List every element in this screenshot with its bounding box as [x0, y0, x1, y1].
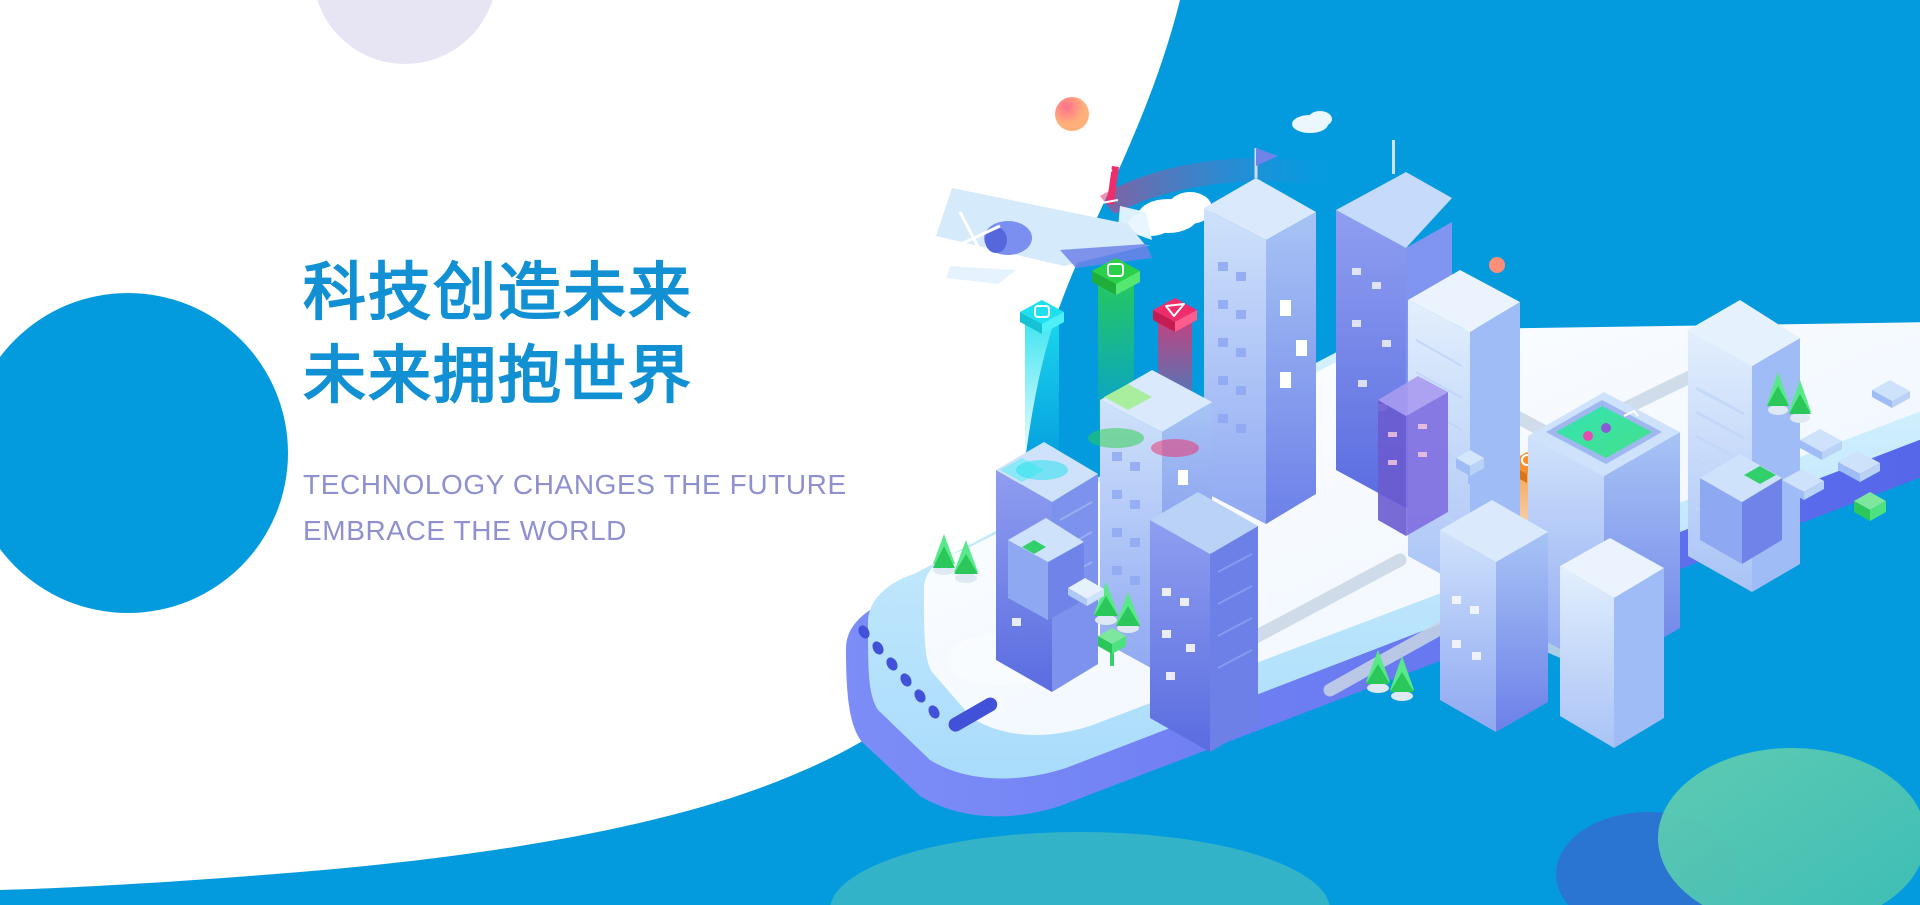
subtitle-line-2: EMBRACE THE WORLD — [303, 508, 943, 553]
copy-block: 科技创造未来 未来拥抱世界 TECHNOLOGY CHANGES THE FUT… — [303, 252, 943, 553]
headline-line-1: 科技创造未来 — [303, 252, 943, 335]
page-title: 科技创造未来 未来拥抱世界 — [303, 252, 943, 418]
subtitle-line-1: TECHNOLOGY CHANGES THE FUTURE — [303, 462, 943, 507]
headline-line-2: 未来拥抱世界 — [303, 335, 943, 418]
page-subtitle: TECHNOLOGY CHANGES THE FUTURE EMBRACE TH… — [303, 462, 943, 553]
background-layer — [0, 0, 1920, 905]
hero-banner: 科技创造未来 未来拥抱世界 TECHNOLOGY CHANGES THE FUT… — [0, 0, 1920, 905]
